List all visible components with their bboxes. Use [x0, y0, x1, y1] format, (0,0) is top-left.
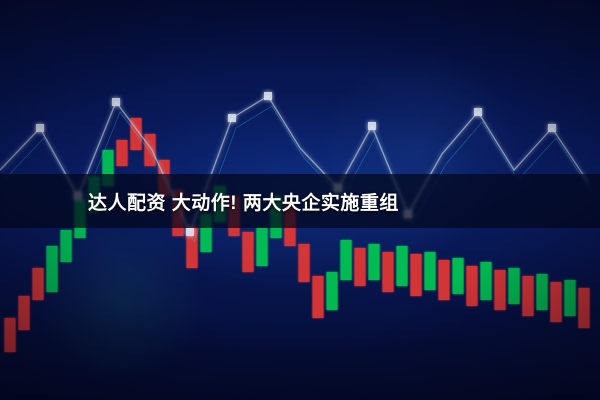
headline-text: 达人配资 大动作! 两大央企实施重组	[88, 188, 399, 215]
headline-band: 达人配资 大动作! 两大央企实施重组	[0, 174, 600, 228]
stock-photo-canvas: 达人配资 大动作! 两大央企实施重组	[0, 0, 600, 400]
